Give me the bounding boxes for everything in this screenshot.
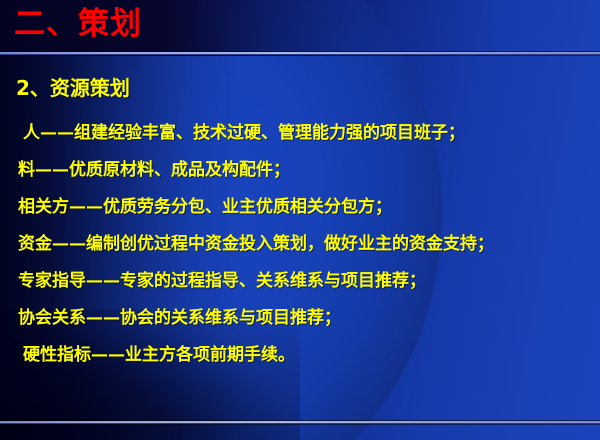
content-line: 人——组建经验丰富、技术过硬、管理能力强的项目班子； bbox=[0, 118, 600, 155]
presentation-slide: 二、策划 2、资源策划 人——组建经验丰富、技术过硬、管理能力强的项目班子；料—… bbox=[0, 0, 600, 440]
footer-divider-rule bbox=[0, 420, 600, 425]
content-line: 硬性指标——业主方各项前期手续。 bbox=[0, 340, 600, 377]
content-line: 资金——编制创优过程中资金投入策划，做好业主的资金支持； bbox=[0, 229, 600, 266]
content-line: 相关方——优质劳务分包、业主优质相关分包方； bbox=[0, 192, 600, 229]
slide-title: 二、策划 bbox=[14, 1, 142, 47]
title-divider-rule bbox=[0, 51, 600, 56]
content-line: 专家指导——专家的过程指导、关系维系与项目推荐； bbox=[0, 266, 600, 303]
content-line: 料——优质原材料、成品及构配件； bbox=[0, 155, 600, 192]
content-list: 人——组建经验丰富、技术过硬、管理能力强的项目班子；料——优质原材料、成品及构配… bbox=[0, 118, 600, 377]
rule-shadow-bottom bbox=[0, 424, 600, 425]
rule-shadow-bottom bbox=[0, 55, 600, 56]
section-heading: 2、资源策划 bbox=[16, 74, 130, 102]
content-line: 协会关系——协会的关系维系与项目推荐； bbox=[0, 303, 600, 340]
